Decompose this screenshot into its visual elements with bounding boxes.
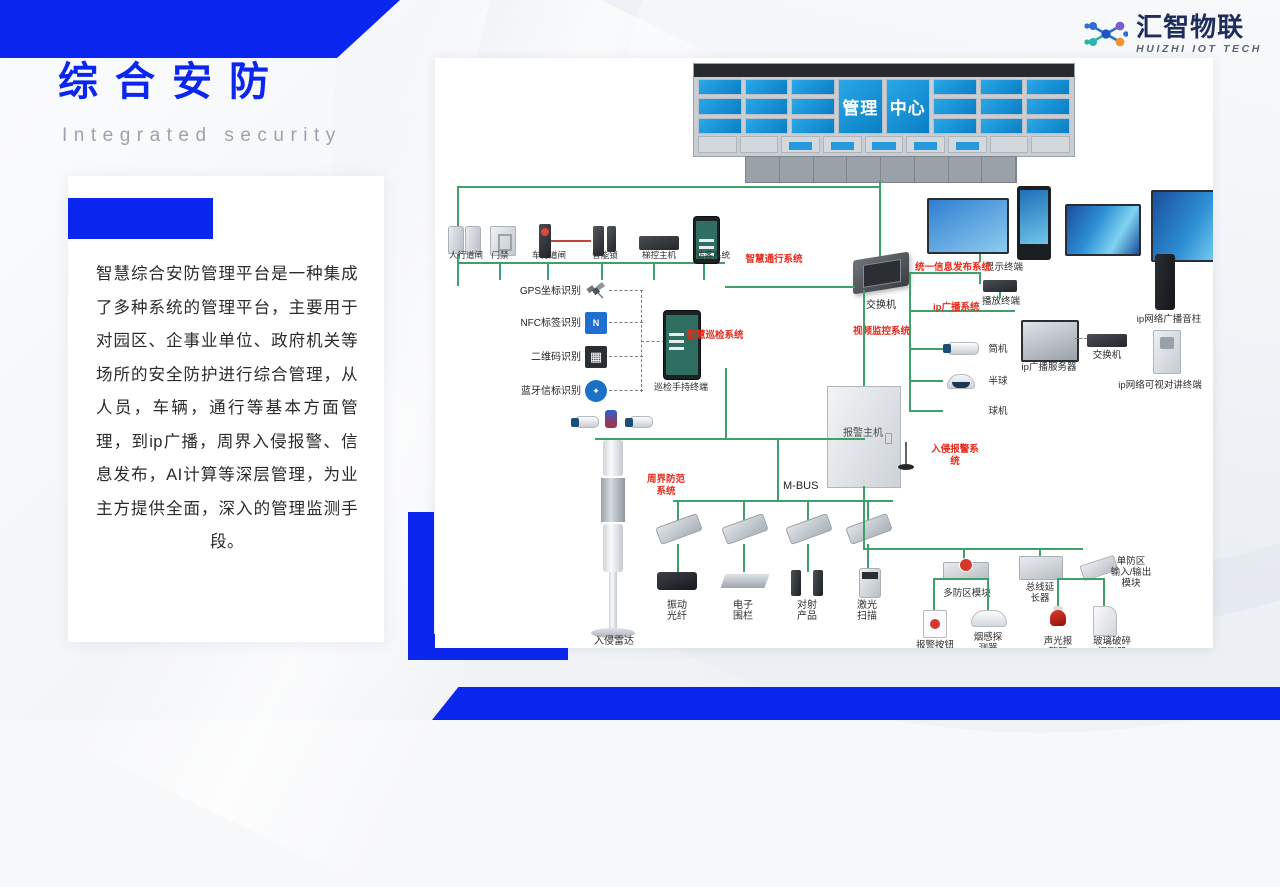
mbus-riser xyxy=(777,440,779,500)
barrier-lens-icon xyxy=(541,228,549,236)
video-wall-grid: 管理 中心 xyxy=(698,79,1070,134)
logo-text-block: 汇智物联 HUIZHI IOT TECH xyxy=(1136,14,1262,55)
desk-seat xyxy=(881,157,915,182)
nfc-icon: N xyxy=(585,312,607,334)
blue-top-banner xyxy=(0,0,400,58)
video-wall-cell xyxy=(745,118,789,134)
management-center-video-wall: 管理 中心 xyxy=(693,63,1075,157)
alarm-device-bus-right xyxy=(1057,578,1103,580)
patrol-link-qr xyxy=(609,356,643,357)
radar-pole-camera-left xyxy=(575,416,599,428)
label-vibration-fiber: 振动 光纤 xyxy=(649,600,705,622)
video-wall-column xyxy=(698,79,742,134)
label-qrcode-recognition: 二维码识别 xyxy=(497,352,581,364)
kiosk-screen xyxy=(1020,190,1048,244)
label-single-zone-io-module: 单防区 输入/输出 模块 xyxy=(1095,556,1167,589)
label-sound-light-siren: 声光报 警器 xyxy=(1031,636,1085,648)
access-drop xyxy=(457,262,459,280)
publish-drop-display xyxy=(979,254,981,262)
console-slot xyxy=(948,136,987,153)
console-slot xyxy=(1031,136,1070,153)
ip-network-speaker-column-icon xyxy=(1155,254,1175,310)
video-wall-cell xyxy=(1026,98,1070,114)
dome-camera-icon xyxy=(947,374,975,389)
video-wall-column xyxy=(791,79,835,134)
page-subtitle: Integrated security xyxy=(62,126,342,145)
label-multizone-module: 多防区模块 xyxy=(929,588,1005,599)
perimeter-riser xyxy=(725,368,727,438)
trunk-line-top xyxy=(457,186,881,188)
label-smart-access-system: 智慧通行系统 xyxy=(731,254,817,266)
label-beam-product: 对射 产品 xyxy=(779,600,835,622)
ip-broadcast-server-icon xyxy=(1021,320,1079,362)
cctv-spine xyxy=(909,348,911,410)
logo-name-cn: 汇智物联 xyxy=(1136,14,1262,40)
blue-bottom-banner xyxy=(432,687,1280,720)
desk-seat xyxy=(780,157,814,182)
page-title: 综合安防 xyxy=(58,62,286,102)
console-slot xyxy=(990,136,1029,153)
glass-break-detector-icon xyxy=(1093,606,1117,636)
label-bus-extender: 总线延 长器 xyxy=(1011,582,1069,604)
access-drop xyxy=(703,262,705,280)
label-mbus: M-BUS xyxy=(783,480,839,492)
video-wall-console-row xyxy=(698,136,1070,153)
video-wall-column xyxy=(745,79,789,134)
label-ip-broadcast-system: ip广播系统 xyxy=(933,302,1013,314)
detector-drop-2 xyxy=(743,544,745,572)
radar-pole-lower xyxy=(603,524,623,572)
video-wall-cell xyxy=(698,98,742,114)
access-drop xyxy=(653,262,655,280)
laser-scanner-icon xyxy=(859,568,881,598)
alarm-device-bus-left xyxy=(933,578,987,580)
video-wall-center: 管理 中心 xyxy=(838,79,930,134)
label-broadcast-switch: 交换机 xyxy=(1083,350,1131,361)
console-slot xyxy=(698,136,737,153)
video-wall-header-strip xyxy=(694,64,1074,77)
intro-paragraph: 智慧综合安防管理平台是一种集成了多种系统的管理平台，主要用于对园区、企事业单位、… xyxy=(96,258,358,560)
control-center-title-right: 中心 xyxy=(886,79,930,134)
alarm-device-drop-button xyxy=(933,578,935,612)
desk-seat xyxy=(847,157,881,182)
perimeter-detector-node-3-icon xyxy=(785,513,833,545)
elevator-control-host-icon xyxy=(639,236,679,250)
label-ip-video-intercom: ip网络可视对讲终端 xyxy=(1107,380,1213,391)
label-bullet-camera: 筒机 xyxy=(981,344,1015,355)
video-wall-cell xyxy=(933,98,977,114)
label-smoke-detector: 烟感探 测器 xyxy=(961,632,1015,648)
desk-seat xyxy=(949,157,983,182)
desk-seat xyxy=(982,157,1016,182)
logo-name-en: HUIZHI IOT TECH xyxy=(1136,44,1262,55)
broadcast-link-server-switch xyxy=(1075,338,1087,339)
video-wall-cell xyxy=(1026,79,1070,95)
radar-pole-mid xyxy=(601,478,625,522)
console-slot xyxy=(781,136,820,153)
video-wall-cell xyxy=(791,79,835,95)
label-smart-patrol-system: 智慧巡检系统 xyxy=(673,330,757,342)
siren-dome xyxy=(1050,610,1066,626)
control-center-title-left: 管理 xyxy=(838,79,882,134)
video-wall-cell xyxy=(1026,118,1070,134)
label-dome-camera: 半球 xyxy=(981,376,1015,387)
label-gps-recognition: GPS坐标识别 xyxy=(497,286,581,298)
desk-seat xyxy=(915,157,949,182)
video-wall-cell xyxy=(745,98,789,114)
access-drop xyxy=(601,262,603,280)
access-drop xyxy=(499,262,501,280)
radar-pole-top xyxy=(603,440,623,476)
cctv-drop-bullet xyxy=(909,348,943,350)
video-wall-cell xyxy=(980,98,1024,114)
label-alarm-button: 报警按钮 xyxy=(907,640,963,648)
label-vehicle-gate: 车行道闸 xyxy=(521,250,577,261)
patrol-link-gps xyxy=(609,290,643,291)
video-wall-cell xyxy=(933,79,977,95)
radar-pole-stem xyxy=(609,572,617,630)
media-player-terminal-icon xyxy=(983,280,1017,292)
operator-desk xyxy=(745,156,1017,183)
video-wall-display-icon xyxy=(927,198,1009,254)
cctv-drop-ptz xyxy=(909,410,943,412)
video-wall-cell xyxy=(698,79,742,95)
video-wall-column xyxy=(980,79,1024,134)
detector-drop-3 xyxy=(807,544,809,572)
video-wall-cell xyxy=(980,118,1024,134)
label-ip-speaker-column: ip网络广播音柱 xyxy=(1125,314,1213,325)
intro-card-tag xyxy=(68,198,213,239)
label-cctv-system: 视频监控系统 xyxy=(853,326,945,338)
label-electronic-fence: 电子 围栏 xyxy=(715,600,771,622)
patrol-link-to-terminal xyxy=(641,341,665,342)
desk-seat xyxy=(814,157,848,182)
beam-detector-right-icon xyxy=(813,570,823,596)
security-architecture-diagram: 管理 中心 xyxy=(435,58,1213,648)
mbus-bus xyxy=(673,500,893,502)
label-bluetooth-beacon-recognition: 蓝牙信标识别 xyxy=(483,386,581,398)
core-switch-icon xyxy=(853,252,909,295)
video-wall-cell xyxy=(745,79,789,95)
sound-light-siren-icon xyxy=(1049,606,1067,630)
led-large-screen-icon xyxy=(1151,190,1213,262)
perimeter-detector-node-1-icon xyxy=(655,513,703,545)
standing-kiosk-icon xyxy=(1017,186,1051,260)
label-laser-scan: 激光 扫描 xyxy=(839,600,895,622)
alarm-button-icon xyxy=(923,610,947,638)
publish-drop-player xyxy=(999,292,1001,298)
switch-feed-left xyxy=(725,286,855,288)
patrol-terminal-screen xyxy=(666,315,698,375)
console-slot xyxy=(740,136,779,153)
alarm-cluster-riser xyxy=(863,486,865,548)
console-slot xyxy=(865,136,904,153)
video-wall-cell xyxy=(980,79,1024,95)
patrol-handheld-terminal-icon xyxy=(663,310,701,380)
label-nfc-recognition: NFC标签识别 xyxy=(489,318,581,330)
video-wall-cell xyxy=(698,118,742,134)
perimeter-detector-node-4-icon xyxy=(845,513,893,545)
video-wall-cell xyxy=(791,118,835,134)
alarm-antenna-icon xyxy=(897,440,915,470)
barrier-arm xyxy=(551,240,591,242)
alarm-device-drop-smoke xyxy=(987,578,989,612)
ip-video-intercom-icon xyxy=(1153,330,1181,374)
access-bus xyxy=(457,262,725,264)
broadcast-switch-icon xyxy=(1087,334,1127,347)
label-access-control: 门禁 xyxy=(479,250,521,261)
company-logo: 汇智物联 HUIZHI IOT TECH xyxy=(1084,14,1262,55)
electronic-fence-icon xyxy=(720,574,769,588)
video-wall-cell xyxy=(791,98,835,114)
label-patrol-terminal: 巡检手持终端 xyxy=(641,382,721,393)
bluetooth-icon: ✦ xyxy=(585,380,607,402)
molecule-network-icon xyxy=(1084,17,1128,51)
label-elevator-host: 梯控主机 xyxy=(631,250,687,261)
desk-seat xyxy=(746,157,780,182)
radar-pole-beacon-icon xyxy=(605,410,617,428)
label-smart-lock: 智能锁 xyxy=(581,250,629,261)
patrol-link-ble xyxy=(609,390,643,391)
radar-pole-camera-right xyxy=(629,416,653,428)
satellite-icon xyxy=(585,280,607,300)
perimeter-detector-node-2-icon xyxy=(721,513,769,545)
detector-drop-1 xyxy=(677,544,679,572)
patrol-link-nfc xyxy=(609,322,643,323)
video-wall-column xyxy=(1026,79,1070,134)
console-slot xyxy=(823,136,862,153)
multizone-module-indicator xyxy=(959,558,973,572)
cctv-drop-dome xyxy=(909,380,943,382)
label-glass-break-detector: 玻璃破碎 探测器 xyxy=(1081,636,1143,648)
beam-detector-left-icon xyxy=(791,570,801,596)
bullet-camera-icon xyxy=(947,342,979,355)
smart-lock-body-icon xyxy=(607,226,616,252)
label-info-publish-system: 统一信息发布系统 xyxy=(915,262,1027,274)
ptz-camera-icon xyxy=(947,400,971,422)
bus-extender-icon xyxy=(1019,556,1063,580)
video-wall-cell xyxy=(933,118,977,134)
tv-display-icon xyxy=(1065,204,1141,256)
label-intrusion-radar: 入侵雷达 xyxy=(577,636,651,647)
label-intrusion-alarm-system: 入侵报警系 统 xyxy=(917,444,993,468)
access-drop xyxy=(547,262,549,280)
alarm-host-riser xyxy=(863,290,865,386)
label-ptz-camera: 球机 xyxy=(981,406,1015,417)
label-perimeter-system: 周界防范 系统 xyxy=(631,474,701,498)
perimeter-top-bus xyxy=(595,438,865,440)
smoke-detector-icon xyxy=(971,610,1007,627)
alarm-cluster-bus xyxy=(863,548,1083,550)
video-wall-column xyxy=(933,79,977,134)
vibration-fiber-icon xyxy=(657,572,697,590)
console-slot xyxy=(906,136,945,153)
label-ip-broadcast-server: ip广播服务器 xyxy=(1013,362,1085,373)
qrcode-icon: ▦ xyxy=(585,346,607,368)
